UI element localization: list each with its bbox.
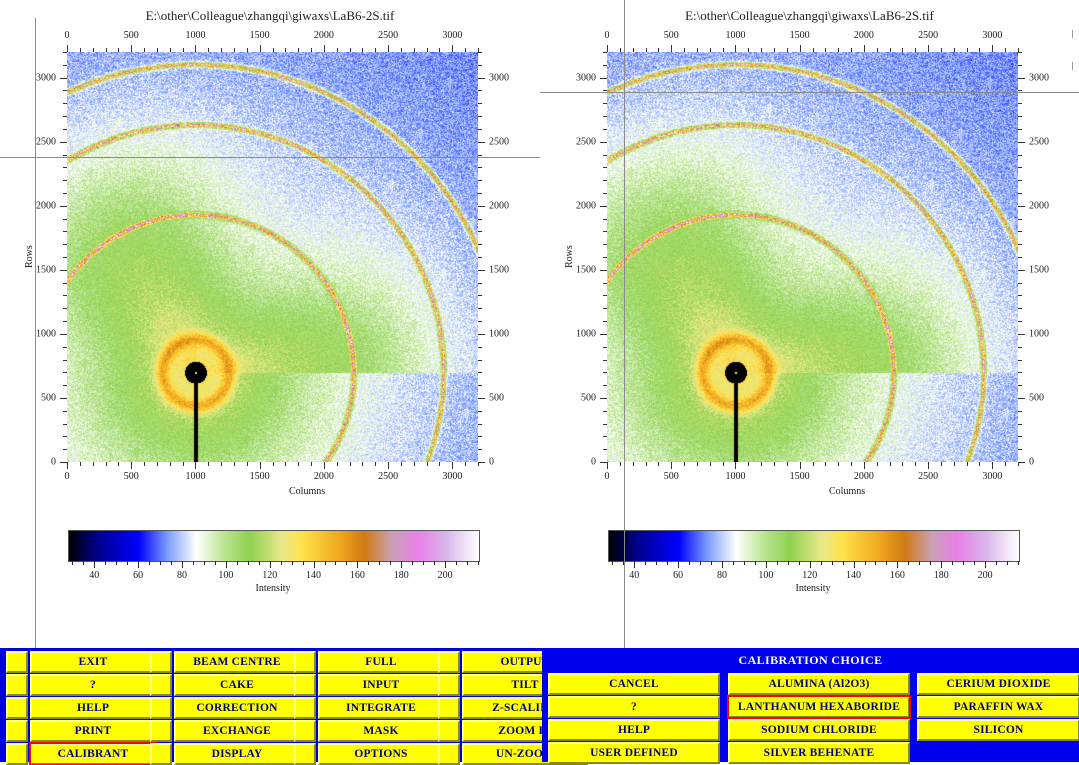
x-axis-minor-tick — [748, 462, 749, 466]
y-axis-minor-tick — [478, 449, 482, 450]
x-axis-tick — [671, 462, 672, 469]
y-axis-minor-tick — [478, 372, 482, 373]
colorbar-minor-tick — [467, 561, 468, 565]
x-axis-tick — [800, 462, 801, 469]
menu-button-integrate[interactable]: INTEGRATE — [318, 697, 444, 719]
y-axis-minor-tick — [478, 155, 482, 156]
menu-button-mask[interactable]: MASK — [318, 720, 444, 742]
menu-button-input[interactable]: INPUT — [318, 674, 444, 696]
y-axis-minor-tick — [478, 219, 482, 220]
y-axis-tick-label: 500 — [41, 392, 56, 403]
x-axis-minor-tick — [465, 48, 466, 52]
colorbar-tick-label: 180 — [394, 570, 409, 581]
x-axis-tick-label: 1500 — [790, 471, 810, 482]
x-axis-tick-label: 2500 — [378, 471, 398, 482]
x-axis-tick-label: 1000 — [725, 471, 745, 482]
x-axis-minor-tick — [774, 48, 775, 52]
colorbar-minor-tick — [72, 561, 73, 565]
x-axis-minor-tick — [427, 462, 428, 466]
y-axis-minor-tick — [603, 116, 607, 117]
x-axis-tick-label: 2000 — [854, 471, 874, 482]
calibrant-button-paraffin-wax[interactable]: PARAFFIN WAX — [917, 696, 1079, 718]
y-axis-tick-label: 0 — [591, 457, 596, 468]
menu-button-stub — [438, 651, 460, 673]
y-axis-minor-tick — [63, 372, 67, 373]
y-axis-minor-tick — [1018, 385, 1022, 386]
y-axis-tick-label: 2500 — [576, 136, 596, 147]
y-axis-minor-tick — [1018, 129, 1022, 130]
y-axis-minor-tick — [603, 449, 607, 450]
x-axis-tick-label: 3000 — [442, 30, 462, 41]
y-axis-minor-tick — [603, 167, 607, 168]
y-axis-minor-tick — [478, 103, 482, 104]
colorbar-minor-tick — [744, 561, 745, 565]
colorbar-minor-tick — [346, 561, 347, 565]
colorbar-minor-tick — [248, 561, 249, 565]
menu-button-stub — [150, 697, 172, 719]
x-axis-tick — [452, 462, 453, 469]
menu-button-exchange[interactable]: EXCHANGE — [174, 720, 300, 742]
x-axis-minor-tick — [375, 462, 376, 466]
x-axis-minor-tick — [80, 48, 81, 52]
y-axis-minor-tick — [603, 436, 607, 437]
menu-button-stub — [294, 674, 316, 696]
colorbar-label-left: Intensity — [68, 583, 478, 594]
colorbar-minor-tick — [390, 561, 391, 565]
calibrant-button-cancel[interactable]: CANCEL — [548, 673, 720, 695]
x-axis-tick — [131, 462, 132, 469]
x-axis-minor-tick — [967, 462, 968, 466]
x-axis-minor-tick — [761, 48, 762, 52]
y-axis-tick-label: 2000 — [36, 200, 56, 211]
x-axis-minor-tick — [761, 462, 762, 466]
y-axis-tick — [60, 78, 67, 79]
colorbar-minor-tick — [171, 561, 172, 565]
y-axis-minor-tick — [478, 436, 482, 437]
menu-button-stub — [6, 697, 28, 719]
x-axis-minor-tick — [221, 462, 222, 466]
colorbar-minor-tick — [700, 561, 701, 565]
crosshair-horizontal-right — [540, 92, 1079, 93]
colorbar-minor-tick — [832, 561, 833, 565]
y-axis-minor-tick — [478, 231, 482, 232]
calibrant-button-silicon[interactable]: SILICON — [917, 719, 1079, 741]
colorbar-minor-tick — [875, 561, 876, 565]
y-axis-minor-tick — [478, 257, 482, 258]
y-axis-minor-tick — [603, 180, 607, 181]
menu-button-full[interactable]: FULL — [318, 651, 444, 673]
colorbar-minor-tick — [127, 561, 128, 565]
y-axis-tick — [1018, 398, 1025, 399]
menu-button-beam-centre[interactable]: BEAM CENTRE — [174, 651, 300, 673]
x-axis-tick — [992, 462, 993, 469]
y-axis-minor-tick — [478, 193, 482, 194]
y-axis-tick — [60, 270, 67, 271]
x-axis-tick-label: 2500 — [378, 30, 398, 41]
y-axis-tick — [478, 78, 485, 79]
x-axis-minor-tick — [273, 48, 274, 52]
x-axis-minor-tick — [362, 48, 363, 52]
colorbar-minor-tick — [160, 561, 161, 565]
menu-button-stub — [294, 651, 316, 673]
colorbar-minor-tick — [612, 561, 613, 565]
colorbar-minor-tick — [777, 561, 778, 565]
y-axis-minor-tick — [478, 321, 482, 322]
y-axis-tick-label: 2000 — [1029, 200, 1049, 211]
x-axis-minor-tick — [144, 48, 145, 52]
y-axis-minor-tick — [1018, 167, 1022, 168]
x-axis-tick — [452, 45, 453, 52]
x-axis-minor-tick — [813, 48, 814, 52]
menu-button-stub — [150, 674, 172, 696]
y-axis-minor-tick — [63, 155, 67, 156]
y-axis-tick — [1018, 142, 1025, 143]
x-axis-tick — [735, 462, 736, 469]
x-axis-minor-tick — [877, 48, 878, 52]
x-axis-minor-tick — [247, 48, 248, 52]
colorbar-tick — [445, 561, 446, 568]
menu-button-stub — [438, 697, 460, 719]
y-axis-tick — [600, 142, 607, 143]
x-axis-minor-tick — [646, 462, 647, 466]
detector-image-right[interactable] — [607, 52, 1018, 462]
y-axis-minor-tick — [1018, 155, 1022, 156]
x-axis-minor-tick — [851, 48, 852, 52]
x-axis-minor-tick — [118, 48, 119, 52]
calibrant-button-alumina-al2o3[interactable]: ALUMINA (Al2O3) — [728, 673, 910, 695]
x-axis-tick-label: 0 — [605, 30, 610, 41]
y-axis-minor-tick — [1018, 180, 1022, 181]
y-axis-minor-tick — [478, 411, 482, 412]
colorbar-tick-label: 120 — [802, 570, 817, 581]
x-axis-tick — [671, 45, 672, 52]
y-axis-tick-label: 1500 — [36, 264, 56, 275]
y-axis-tick — [478, 142, 485, 143]
y-axis-minor-tick — [63, 347, 67, 348]
colorbar-tick-label: 40 — [629, 570, 639, 581]
x-axis-minor-tick — [877, 462, 878, 466]
colorbar-minor-tick — [379, 561, 380, 565]
colorbar-minor-tick — [105, 561, 106, 565]
y-axis-minor-tick — [63, 90, 67, 91]
x-axis-minor-tick — [414, 48, 415, 52]
plot-title-right: E:\other\Colleague\zhangqi\giwaxs\LaB6-2… — [540, 8, 1079, 24]
x-axis-tick — [928, 45, 929, 52]
calibrant-button-lanthanum-hexaboride[interactable]: LANTHANUM HEXABORIDE — [728, 696, 910, 718]
menu-button-stub — [438, 674, 460, 696]
colorbar-left[interactable]: 406080100120140160180200 Intensity — [68, 530, 478, 590]
colorbar-minor-tick — [667, 561, 668, 565]
y-axis-minor-tick — [478, 52, 482, 53]
y-axis-minor-tick — [1018, 360, 1022, 361]
y-axis-minor-tick — [63, 103, 67, 104]
x-axis-minor-tick — [723, 462, 724, 466]
x-axis-tick — [607, 462, 608, 469]
colorbar-tick — [766, 561, 767, 568]
colorbar-minor-tick — [689, 561, 690, 565]
y-axis-minor-tick — [1018, 347, 1022, 348]
x-axis-minor-tick — [350, 48, 351, 52]
y-axis-minor-tick — [478, 129, 482, 130]
x-axis-tick — [388, 462, 389, 469]
y-axis-minor-tick — [603, 321, 607, 322]
x-axis-minor-tick — [723, 48, 724, 52]
x-axis-minor-tick — [774, 462, 775, 466]
colorbar-label-right: Intensity — [608, 583, 1018, 594]
y-axis-tick — [1018, 78, 1025, 79]
y-axis-minor-tick — [1018, 116, 1022, 117]
y-axis-minor-tick — [478, 308, 482, 309]
x-axis-minor-tick — [954, 48, 955, 52]
x-axis-minor-tick — [106, 462, 107, 466]
x-axis-tick — [324, 462, 325, 469]
colorbar-tick-label: 120 — [262, 570, 277, 581]
calibrant-button-user-defined[interactable]: USER DEFINED — [548, 742, 720, 764]
x-axis-tick-label: 2000 — [854, 30, 874, 41]
y-axis-tick — [60, 334, 67, 335]
y-axis-minor-tick — [478, 244, 482, 245]
x-axis-minor-tick — [375, 48, 376, 52]
colorbar-minor-tick — [711, 561, 712, 565]
menu-button-help[interactable]: HELP — [30, 697, 156, 719]
x-axis-minor-tick — [465, 462, 466, 466]
colorbar-minor-tick — [325, 561, 326, 565]
y-axis-tick — [60, 462, 67, 463]
colorbar-minor-tick — [149, 561, 150, 565]
y-axis-minor-tick — [603, 424, 607, 425]
colorbar-tick-label: 160 — [350, 570, 365, 581]
x-axis-minor-tick — [298, 48, 299, 52]
y-axis-minor-tick — [603, 360, 607, 361]
y-axis-tick — [1018, 270, 1025, 271]
detector-image-canvas-left[interactable] — [67, 52, 478, 462]
x-axis-tick-label: 2500 — [918, 30, 938, 41]
x-axis-minor-tick — [941, 48, 942, 52]
x-axis-minor-tick — [838, 48, 839, 52]
x-axis-label-right: Columns — [829, 486, 865, 497]
colorbar-tick-label: 40 — [89, 570, 99, 581]
menu-button-cake[interactable]: CAKE — [174, 674, 300, 696]
x-axis-tick — [864, 462, 865, 469]
x-axis-minor-tick — [813, 462, 814, 466]
colorbar-tick — [678, 561, 679, 568]
x-axis-tick-label: 2000 — [314, 471, 334, 482]
x-axis-minor-tick — [234, 462, 235, 466]
y-axis-tick-label: 1500 — [576, 264, 596, 275]
menu-button-correction[interactable]: CORRECTION — [174, 697, 300, 719]
colorbar-gradient-left — [68, 530, 480, 562]
y-axis-minor-tick — [63, 321, 67, 322]
y-axis-minor-tick — [478, 180, 482, 181]
calibrant-button-help[interactable]: HELP — [548, 719, 720, 741]
x-axis-tick — [928, 462, 929, 469]
y-axis-minor-tick — [63, 436, 67, 437]
menu-button-stub — [6, 674, 28, 696]
calibrant-button-cerium-dioxide[interactable]: CERIUM DIOXIDE — [917, 673, 1079, 695]
detector-image-canvas-right[interactable] — [607, 52, 1018, 462]
window-edge-artifact-top — [1072, 30, 1073, 38]
y-axis-minor-tick — [63, 167, 67, 168]
y-axis-tick — [1018, 462, 1025, 463]
x-axis-minor-tick — [247, 462, 248, 466]
y-axis-tick — [60, 206, 67, 207]
x-axis-minor-tick — [170, 48, 171, 52]
colorbar-tick — [94, 561, 95, 568]
x-axis-tick-label: 500 — [664, 30, 679, 41]
y-axis-minor-tick — [603, 308, 607, 309]
y-axis-minor-tick — [603, 295, 607, 296]
colorbar-tick-label: 80 — [717, 570, 727, 581]
calibration-choice-panel: CALIBRATION CHOICE CANCEL?HELPUSER DEFIN… — [542, 648, 1079, 762]
y-axis-tick-label: 2500 — [36, 136, 56, 147]
x-axis-minor-tick — [337, 48, 338, 52]
y-axis-tick-label: 500 — [581, 392, 596, 403]
y-axis-minor-tick — [63, 295, 67, 296]
y-axis-minor-tick — [603, 372, 607, 373]
x-axis-minor-tick — [787, 462, 788, 466]
y-axis-minor-tick — [603, 155, 607, 156]
x-axis-tick — [800, 45, 801, 52]
x-axis-minor-tick — [902, 48, 903, 52]
colorbar-tick-label: 200 — [978, 570, 993, 581]
y-axis-tick — [1018, 334, 1025, 335]
x-axis-minor-tick — [1005, 48, 1006, 52]
x-axis-minor-tick — [93, 462, 94, 466]
y-axis-tick — [60, 398, 67, 399]
y-axis-minor-tick — [1018, 193, 1022, 194]
y-axis-minor-tick — [63, 231, 67, 232]
colorbar-tick-label: 140 — [846, 570, 861, 581]
y-axis-minor-tick — [1018, 424, 1022, 425]
y-axis-tick-label: 3000 — [489, 72, 509, 83]
colorbar-minor-tick — [434, 561, 435, 565]
calibrant-button-sodium-chloride[interactable]: SODIUM CHLORIDE — [728, 719, 910, 741]
y-axis-minor-tick — [478, 424, 482, 425]
y-axis-minor-tick — [63, 411, 67, 412]
colorbar-minor-tick — [259, 561, 260, 565]
y-axis-minor-tick — [1018, 257, 1022, 258]
x-axis-minor-tick — [311, 48, 312, 52]
x-axis-minor-tick — [697, 48, 698, 52]
x-axis-tick-label: 1000 — [185, 471, 205, 482]
detector-image-left[interactable] — [67, 52, 478, 462]
x-axis-tick — [260, 462, 261, 469]
y-axis-minor-tick — [63, 129, 67, 130]
colorbar-minor-tick — [865, 561, 866, 565]
x-axis-tick-label: 1500 — [250, 471, 270, 482]
x-axis-tick-label: 2000 — [314, 30, 334, 41]
colorbar-tick — [810, 561, 811, 568]
y-axis-minor-tick — [603, 52, 607, 53]
x-axis-minor-tick — [915, 48, 916, 52]
colorbar-minor-tick — [335, 561, 336, 565]
x-axis-minor-tick — [285, 462, 286, 466]
y-axis-minor-tick — [1018, 411, 1022, 412]
x-axis-minor-tick — [825, 48, 826, 52]
colorbar-minor-tick — [423, 561, 424, 565]
colorbar-tick — [985, 561, 986, 568]
y-axis-minor-tick — [1018, 449, 1022, 450]
calibrant-button-silver-behenate[interactable]: SILVER BEHENATE — [728, 742, 910, 764]
y-axis-minor-tick — [603, 244, 607, 245]
x-axis-tick-label: 3000 — [442, 471, 462, 482]
window-edge-artifact-bottom — [1072, 62, 1073, 70]
colorbar-minor-tick — [83, 561, 84, 565]
x-axis-minor-tick — [234, 48, 235, 52]
colorbar-tick-label: 60 — [133, 570, 143, 581]
y-axis-tick-label: 1000 — [1029, 328, 1049, 339]
menu-button-print[interactable]: PRINT — [30, 720, 156, 742]
y-axis-tick — [600, 334, 607, 335]
colorbar-minor-tick — [952, 561, 953, 565]
menu-button-stub — [294, 697, 316, 719]
colorbar-minor-tick — [1018, 561, 1019, 565]
x-axis-minor-tick — [208, 48, 209, 52]
y-axis-minor-tick — [63, 180, 67, 181]
x-axis-minor-tick — [646, 48, 647, 52]
colorbar-tick — [722, 561, 723, 568]
y-axis-minor-tick — [603, 193, 607, 194]
x-axis-minor-tick — [620, 48, 621, 52]
colorbar-right[interactable]: 406080100120140160180200 Intensity — [608, 530, 1018, 590]
y-axis-minor-tick — [63, 193, 67, 194]
calibrant-button-[interactable]: ? — [548, 696, 720, 718]
x-axis-minor-tick — [825, 462, 826, 466]
y-axis-minor-tick — [478, 90, 482, 91]
colorbar-minor-tick — [303, 561, 304, 565]
x-axis-tick-label: 1500 — [250, 30, 270, 41]
x-axis-minor-tick — [620, 462, 621, 466]
x-axis-tick — [864, 45, 865, 52]
y-axis-tick-label: 0 — [489, 457, 494, 468]
y-axis-tick-label: 1000 — [489, 328, 509, 339]
x-axis-tick — [992, 45, 993, 52]
y-axis-minor-tick — [603, 283, 607, 284]
y-axis-minor-tick — [63, 244, 67, 245]
x-axis-tick — [607, 45, 608, 52]
colorbar-minor-tick — [788, 561, 789, 565]
y-axis-minor-tick — [63, 449, 67, 450]
x-axis-minor-tick — [439, 48, 440, 52]
y-axis-minor-tick — [478, 295, 482, 296]
colorbar-minor-tick — [974, 561, 975, 565]
x-axis-minor-tick — [183, 48, 184, 52]
y-axis-minor-tick — [1018, 231, 1022, 232]
x-axis-tick — [195, 45, 196, 52]
x-axis-minor-tick — [915, 462, 916, 466]
menu-button-stub — [294, 720, 316, 742]
x-axis-minor-tick — [710, 48, 711, 52]
colorbar-tick-label: 200 — [438, 570, 453, 581]
colorbar-tick-label: 160 — [890, 570, 905, 581]
menu-button-exit[interactable]: EXIT — [30, 651, 156, 673]
x-axis-minor-tick — [273, 462, 274, 466]
y-axis-tick — [600, 206, 607, 207]
colorbar-tick-label: 100 — [758, 570, 773, 581]
y-axis-tick-label: 2500 — [1029, 136, 1049, 147]
colorbar-minor-tick — [930, 561, 931, 565]
menu-button-[interactable]: ? — [30, 674, 156, 696]
plot-panel-right: E:\other\Colleague\zhangqi\giwaxs\LaB6-2… — [540, 0, 1079, 640]
x-axis-minor-tick — [838, 462, 839, 466]
colorbar-tick — [226, 561, 227, 568]
y-axis-tick — [600, 462, 607, 463]
colorbar-minor-tick — [193, 561, 194, 565]
x-axis-minor-tick — [748, 48, 749, 52]
x-axis-tick-label: 0 — [65, 30, 70, 41]
y-axis-minor-tick — [1018, 283, 1022, 284]
y-axis-minor-tick — [603, 231, 607, 232]
